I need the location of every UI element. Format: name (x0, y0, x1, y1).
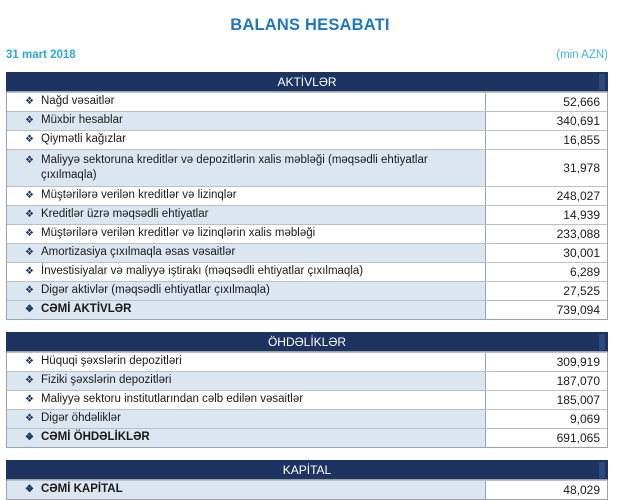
row-label: Kreditlər üzrə məqsədli ehtiyatlar (41, 207, 479, 222)
row-value: 14,939 (485, 206, 607, 224)
row-label-cell: ❖Digər öhdəliklər (7, 410, 485, 428)
row-label-cell: ❖CƏMİ KAPİTAL (7, 481, 485, 499)
row-label-cell: ❖Maliyyə sektoruna kreditlər və depozitl… (7, 150, 485, 186)
diamond-bullet-icon: ❖ (25, 113, 41, 128)
meta-row: 31 mart 2018 (min AZN) (0, 35, 620, 61)
table-row: ❖İnvestisiyalar və maliyyə iştirakı (məq… (7, 262, 607, 281)
diamond-bullet-icon: ❖ (25, 283, 41, 298)
row-value: 309,919 (485, 353, 607, 371)
diamond-bullet-icon: ❖ (25, 264, 41, 279)
row-label-cell: ❖Müştərilərə verilən kreditlər və lizinq… (7, 225, 485, 243)
row-label-cell: ❖Maliyyə sektoru institutlarından cəlb e… (7, 391, 485, 409)
row-label: Müştərilərə verilən kreditlər və lizinql… (41, 226, 479, 241)
row-label: Digər öhdəliklər (41, 411, 479, 426)
row-value: 233,088 (485, 225, 607, 243)
table-row: ❖Digər aktivlər (məqsədli ehtiyatlar çıx… (7, 281, 607, 300)
row-value: 27,525 (485, 282, 607, 300)
table-row-total: ❖CƏMİ AKTİVLƏR739,094 (7, 300, 607, 319)
row-label: İnvestisiyalar və maliyyə iştirakı (məqs… (41, 264, 479, 279)
row-value: 16,855 (485, 131, 607, 149)
table-row: ❖Hüquqi şəxslərin depozitləri309,919 (7, 352, 607, 371)
currency-units: (min AZN) (556, 49, 608, 61)
diamond-bullet-icon: ❖ (25, 226, 41, 241)
row-label: Qiymətli kağızlar (41, 132, 479, 147)
row-label: CƏMİ KAPİTAL (41, 482, 479, 497)
row-label-cell: ❖Müxbir hesablar (7, 112, 485, 130)
diamond-bullet-icon: ❖ (25, 302, 41, 317)
row-label-cell: ❖CƏMİ AKTİVLƏR (7, 301, 485, 319)
table-row: ❖Müştərilərə verilən kreditlər və lizinq… (7, 224, 607, 243)
table-row: ❖Maliyyə sektoruna kreditlər və depozitl… (7, 149, 607, 186)
table-row: ❖Müxbir hesablar340,691 (7, 111, 607, 130)
diamond-bullet-icon: ❖ (25, 354, 41, 369)
row-label-cell: ❖Müştərilərə verilən kreditlər və lizinq… (7, 187, 485, 205)
row-label-cell: ❖Nağd vəsaitlər (7, 93, 485, 111)
report-date: 31 mart 2018 (6, 49, 76, 61)
row-value: 31,978 (485, 150, 607, 186)
diamond-bullet-icon: ❖ (25, 207, 41, 222)
row-label: CƏMİ AKTİVLƏR (41, 302, 479, 317)
row-label-cell: ❖Hüquqi şəxslərin depozitləri (7, 353, 485, 371)
diamond-bullet-icon: ❖ (25, 430, 41, 445)
row-value: 739,094 (485, 301, 607, 319)
diamond-bullet-icon: ❖ (25, 245, 41, 260)
section-header: ÖHDƏLİKLƏR (6, 332, 608, 352)
diamond-bullet-icon: ❖ (25, 373, 41, 388)
row-label: Fiziki şəxslərin depozitləri (41, 373, 479, 388)
row-label: Maliyyə sektoru institutlarından cəlb ed… (41, 392, 479, 407)
diamond-bullet-icon: ❖ (25, 482, 41, 497)
row-label-cell: ❖Kreditlər üzrə məqsədli ehtiyatlar (7, 206, 485, 224)
page-title: BALANS HESABATI (0, 0, 620, 35)
table-row-total: ❖CƏMİ ÖHDƏLİKLƏR691,065 (7, 428, 607, 447)
table-row-total: ❖CƏMİ KAPİTAL48,029 (7, 480, 607, 499)
diamond-bullet-icon: ❖ (25, 153, 41, 168)
row-label: Amortizasiya çıxılmaqla əsas vəsaitlər (41, 245, 479, 260)
diamond-bullet-icon: ❖ (25, 411, 41, 426)
row-value: 187,070 (485, 372, 607, 390)
row-value: 6,289 (485, 263, 607, 281)
row-label-cell: ❖CƏMİ ÖHDƏLİKLƏR (7, 429, 485, 447)
row-label: Müxbir hesablar (41, 113, 479, 128)
table-section: KAPİTAL❖CƏMİ KAPİTAL48,029 (6, 460, 608, 500)
diamond-bullet-icon: ❖ (25, 94, 41, 109)
row-label: Maliyyə sektoruna kreditlər və depozitlə… (41, 153, 479, 183)
row-label: Digər aktivlər (məqsədli ehtiyatlar çıxı… (41, 283, 479, 298)
row-value: 30,001 (485, 244, 607, 262)
balance-sheet-page: BALANS HESABATI 31 mart 2018 (min AZN) A… (0, 0, 620, 499)
diamond-bullet-icon: ❖ (25, 132, 41, 147)
table-section: ÖHDƏLİKLƏR❖Hüquqi şəxslərin depozitləri3… (6, 332, 608, 448)
row-label: Hüquqi şəxslərin depozitləri (41, 354, 479, 369)
table-row: ❖Kreditlər üzrə məqsədli ehtiyatlar14,93… (7, 205, 607, 224)
row-value: 48,029 (485, 481, 607, 499)
row-value: 248,027 (485, 187, 607, 205)
row-label-cell: ❖Qiymətli kağızlar (7, 131, 485, 149)
row-label: Nağd vəsaitlər (41, 94, 479, 109)
table-row: ❖Amortizasiya çıxılmaqla əsas vəsaitlər3… (7, 243, 607, 262)
section-header: KAPİTAL (6, 460, 608, 480)
sections-container: AKTİVLƏR❖Nağd vəsaitlər52,666❖Müxbir hes… (0, 72, 620, 500)
row-label-cell: ❖İnvestisiyalar və maliyyə iştirakı (məq… (7, 263, 485, 281)
row-value: 9,069 (485, 410, 607, 428)
table-row: ❖Digər öhdəliklər9,069 (7, 409, 607, 428)
table-row: ❖Nağd vəsaitlər52,666 (7, 92, 607, 111)
row-value: 185,007 (485, 391, 607, 409)
table-section: AKTİVLƏR❖Nağd vəsaitlər52,666❖Müxbir hes… (6, 72, 608, 320)
row-label-cell: ❖Digər aktivlər (məqsədli ehtiyatlar çıx… (7, 282, 485, 300)
section-header: AKTİVLƏR (6, 72, 608, 92)
row-label-cell: ❖Amortizasiya çıxılmaqla əsas vəsaitlər (7, 244, 485, 262)
table-row: ❖Qiymətli kağızlar16,855 (7, 130, 607, 149)
diamond-bullet-icon: ❖ (25, 392, 41, 407)
row-label-cell: ❖Fiziki şəxslərin depozitləri (7, 372, 485, 390)
table-row: ❖Müştərilərə verilən kreditlər və lizinq… (7, 186, 607, 205)
row-value: 340,691 (485, 112, 607, 130)
table-row: ❖Fiziki şəxslərin depozitləri187,070 (7, 371, 607, 390)
row-label: Müştərilərə verilən kreditlər və lizinql… (41, 188, 479, 203)
row-value: 691,065 (485, 429, 607, 447)
row-label: CƏMİ ÖHDƏLİKLƏR (41, 430, 479, 445)
row-value: 52,666 (485, 93, 607, 111)
table-row: ❖Maliyyə sektoru institutlarından cəlb e… (7, 390, 607, 409)
diamond-bullet-icon: ❖ (25, 188, 41, 203)
